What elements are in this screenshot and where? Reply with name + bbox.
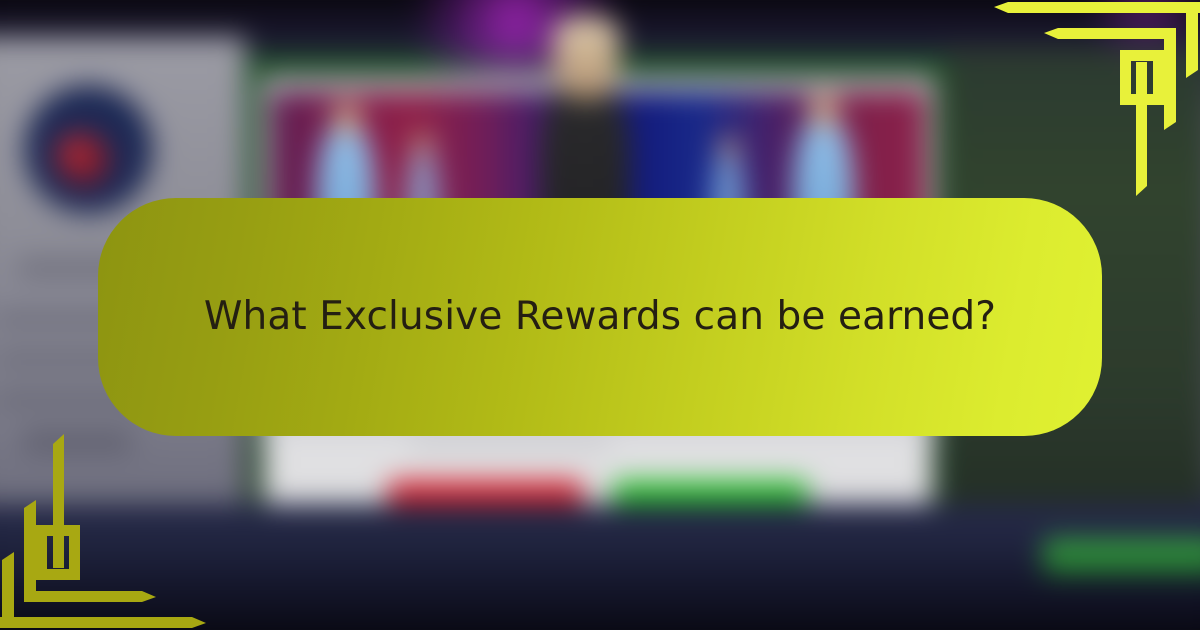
player-head [718,135,740,158]
club-crest-detail-icon [52,131,98,173]
continue-button[interactable] [1043,539,1200,575]
dialog-text-line [411,443,611,446]
manager-head [554,22,619,100]
app-statusbar [0,504,1200,630]
question-banner: What Exclusive Rewards can be earned? [98,198,1102,436]
player-head [332,102,361,134]
player-head [412,131,434,154]
stage-glow-secondary-icon [1083,0,1200,68]
banner-image: What Exclusive Rewards can be earned? [0,0,1200,630]
player-head [808,93,840,127]
sidebar-item-label [22,429,131,452]
banner-title: What Exclusive Rewards can be earned? [150,295,1050,340]
